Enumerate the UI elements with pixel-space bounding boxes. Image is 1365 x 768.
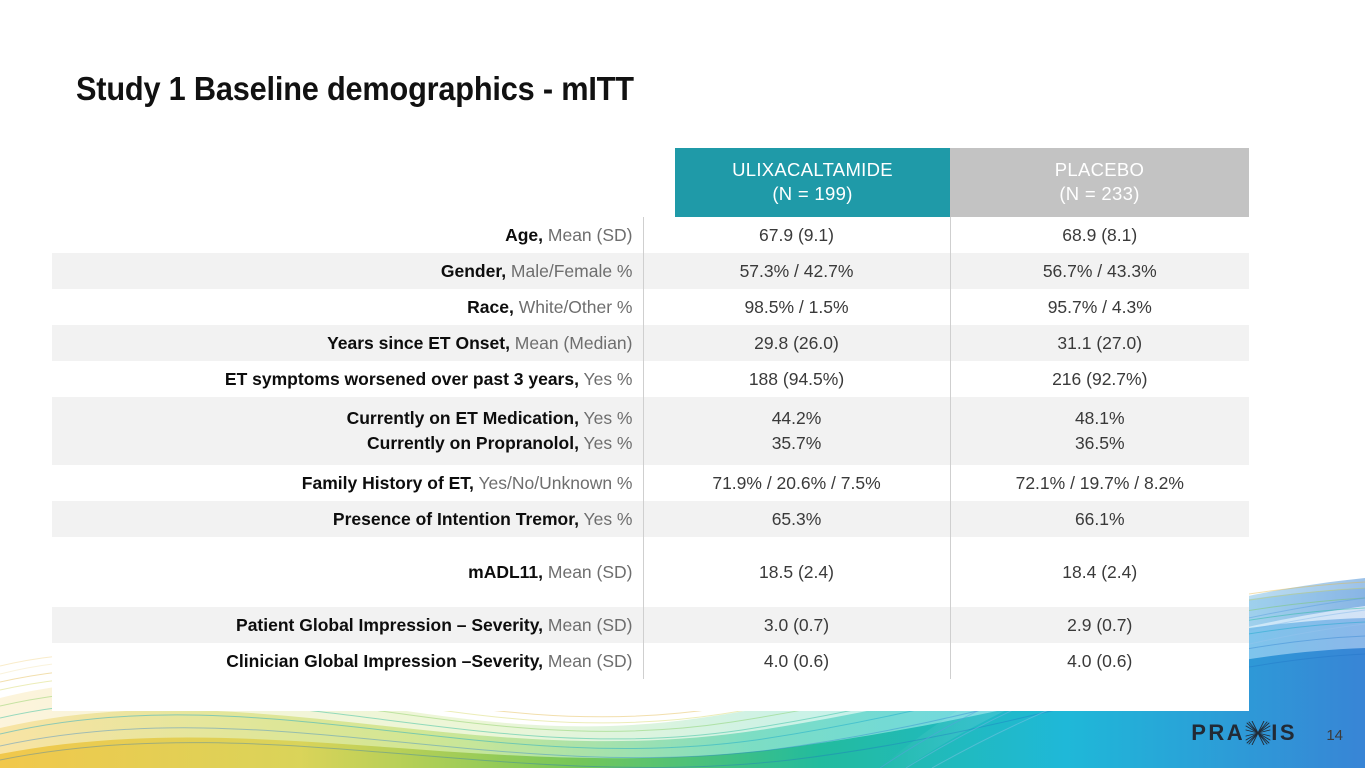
row-label: Age, Mean (SD) bbox=[52, 217, 643, 253]
value-ulixacaltamide: 29.8 (26.0) bbox=[643, 325, 950, 361]
row-label: Years since ET Onset, Mean (Median) bbox=[52, 325, 643, 361]
value-ulixacaltamide: 71.9% / 20.6% / 7.5% bbox=[643, 465, 950, 501]
value-ulixacaltamide: 188 (94.5%) bbox=[643, 361, 950, 397]
table-row: Years since ET Onset, Mean (Median)29.8 … bbox=[52, 325, 1249, 361]
slide-canvas: Study 1 Baseline demographics - mITT ULI… bbox=[0, 0, 1365, 768]
table-header-row: ULIXACALTAMIDE (N = 199) PLACEBO (N = 23… bbox=[52, 148, 1249, 217]
table-row: Gender, Male/Female %57.3% / 42.7%56.7% … bbox=[52, 253, 1249, 289]
value-placebo: 95.7% / 4.3% bbox=[950, 289, 1249, 325]
baseline-demographics-table: ULIXACALTAMIDE (N = 199) PLACEBO (N = 23… bbox=[52, 148, 1249, 679]
value-ulixacaltamide: 65.3% bbox=[643, 501, 950, 537]
value-ulixacaltamide: 44.2%35.7% bbox=[643, 397, 950, 465]
value-placebo: 4.0 (0.6) bbox=[950, 643, 1249, 679]
table-row: ET symptoms worsened over past 3 years, … bbox=[52, 361, 1249, 397]
praxis-logo: PRA IS bbox=[1191, 720, 1297, 746]
table-row: mADL11, Mean (SD)18.5 (2.4)18.4 (2.4) bbox=[52, 537, 1249, 607]
value-placebo: 216 (92.7%) bbox=[950, 361, 1249, 397]
table-row: Family History of ET, Yes/No/Unknown %71… bbox=[52, 465, 1249, 501]
row-label: Patient Global Impression – Severity, Me… bbox=[52, 607, 643, 643]
header-ulixacaltamide-n: (N = 199) bbox=[679, 182, 946, 206]
header-placebo-name: PLACEBO bbox=[954, 158, 1245, 182]
value-ulixacaltamide: 67.9 (9.1) bbox=[643, 217, 950, 253]
header-blank-cell bbox=[52, 148, 643, 217]
row-label: Family History of ET, Yes/No/Unknown % bbox=[52, 465, 643, 501]
row-label: Race, White/Other % bbox=[52, 289, 643, 325]
starburst-x-icon bbox=[1245, 721, 1271, 745]
value-ulixacaltamide: 98.5% / 1.5% bbox=[643, 289, 950, 325]
page-number: 14 bbox=[1326, 727, 1343, 744]
table-row: Age, Mean (SD)67.9 (9.1)68.9 (8.1) bbox=[52, 217, 1249, 253]
value-placebo: 31.1 (27.0) bbox=[950, 325, 1249, 361]
value-placebo: 68.9 (8.1) bbox=[950, 217, 1249, 253]
row-label: mADL11, Mean (SD) bbox=[52, 537, 643, 607]
praxis-text-is: IS bbox=[1271, 720, 1297, 746]
value-placebo: 66.1% bbox=[950, 501, 1249, 537]
table-row: Clinician Global Impression –Severity, M… bbox=[52, 643, 1249, 679]
row-label: Currently on ET Medication, Yes %Current… bbox=[52, 397, 643, 465]
header-ulixacaltamide-name: ULIXACALTAMIDE bbox=[679, 158, 946, 182]
value-placebo: 72.1% / 19.7% / 8.2% bbox=[950, 465, 1249, 501]
value-ulixacaltamide: 18.5 (2.4) bbox=[643, 537, 950, 607]
row-label: Gender, Male/Female % bbox=[52, 253, 643, 289]
page-title: Study 1 Baseline demographics - mITT bbox=[76, 70, 634, 108]
row-label: ET symptoms worsened over past 3 years, … bbox=[52, 361, 643, 397]
table-row: Race, White/Other %98.5% / 1.5%95.7% / 4… bbox=[52, 289, 1249, 325]
header-cell-placebo: PLACEBO (N = 233) bbox=[950, 148, 1249, 217]
value-placebo: 2.9 (0.7) bbox=[950, 607, 1249, 643]
value-ulixacaltamide: 57.3% / 42.7% bbox=[643, 253, 950, 289]
table-row: Patient Global Impression – Severity, Me… bbox=[52, 607, 1249, 643]
table-body: Age, Mean (SD)67.9 (9.1)68.9 (8.1)Gender… bbox=[52, 217, 1249, 679]
value-placebo: 18.4 (2.4) bbox=[950, 537, 1249, 607]
table-row: Currently on ET Medication, Yes %Current… bbox=[52, 397, 1249, 465]
value-placebo: 48.1%36.5% bbox=[950, 397, 1249, 465]
row-label: Presence of Intention Tremor, Yes % bbox=[52, 501, 643, 537]
praxis-text-pra: PRA bbox=[1191, 720, 1245, 746]
value-ulixacaltamide: 3.0 (0.7) bbox=[643, 607, 950, 643]
demographics-card: ULIXACALTAMIDE (N = 199) PLACEBO (N = 23… bbox=[52, 148, 1249, 711]
value-placebo: 56.7% / 43.3% bbox=[950, 253, 1249, 289]
header-cell-ulixacaltamide: ULIXACALTAMIDE (N = 199) bbox=[643, 148, 950, 217]
table-head: ULIXACALTAMIDE (N = 199) PLACEBO (N = 23… bbox=[52, 148, 1249, 217]
table-row: Presence of Intention Tremor, Yes %65.3%… bbox=[52, 501, 1249, 537]
praxis-wordmark: PRA IS bbox=[1191, 720, 1297, 746]
row-label: Clinician Global Impression –Severity, M… bbox=[52, 643, 643, 679]
value-ulixacaltamide: 4.0 (0.6) bbox=[643, 643, 950, 679]
header-placebo-n: (N = 233) bbox=[954, 182, 1245, 206]
